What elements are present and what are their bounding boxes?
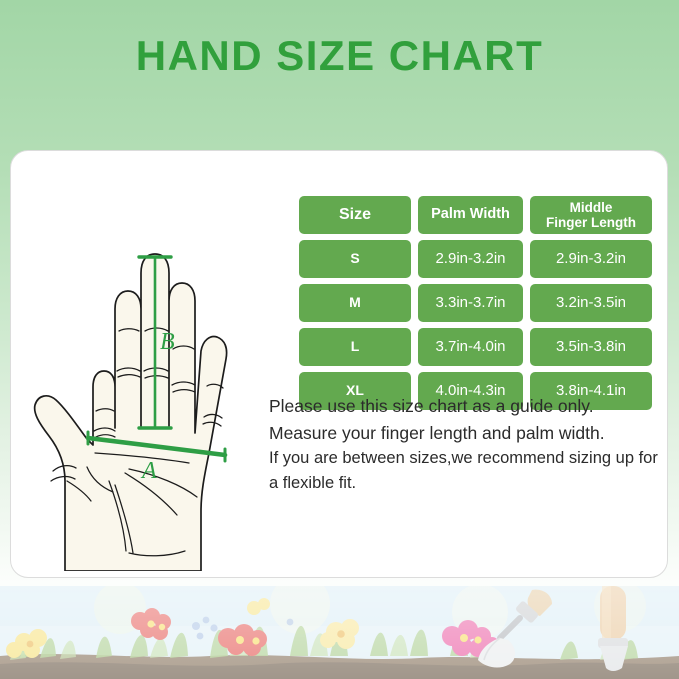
table-row: S 2.9in-3.2in 2.9in-3.2in (299, 240, 657, 278)
hand-shape (35, 254, 227, 571)
page-title: HAND SIZE CHART (0, 32, 679, 80)
cell-middle-finger-length: 2.9in-3.2in (530, 240, 652, 278)
hand-measurement-diagram: B A (29, 181, 294, 571)
note-line-1: Please use this size chart as a guide on… (269, 393, 659, 420)
table-row: L 3.7in-4.0in 3.5in-3.8in (299, 328, 657, 366)
header-middle-finger-line1: Middle (546, 200, 636, 215)
cell-palm-width: 3.7in-4.0in (418, 328, 523, 366)
cell-palm-width: 2.9in-3.2in (418, 240, 523, 278)
cell-size: M (299, 284, 411, 322)
finger-length-label: B (160, 329, 175, 355)
note-line-2: Measure your finger length and palm widt… (269, 420, 659, 447)
cell-size: L (299, 328, 411, 366)
cell-palm-width: 3.3in-3.7in (418, 284, 523, 322)
palm-width-label: A (140, 458, 157, 484)
header-middle-finger-length: Middle Finger Length (530, 196, 652, 234)
table-row: M 3.3in-3.7in 3.2in-3.5in (299, 284, 657, 322)
size-guide-notes: Please use this size chart as a guide on… (269, 393, 659, 496)
note-line-3: If you are between sizes,we recommend si… (269, 446, 659, 496)
table-header-row: Size Palm Width Middle Finger Length (299, 196, 657, 234)
cell-size: S (299, 240, 411, 278)
cell-middle-finger-length: 3.5in-3.8in (530, 328, 652, 366)
cell-middle-finger-length: 3.2in-3.5in (530, 284, 652, 322)
header-palm-width: Palm Width (418, 196, 523, 234)
header-size: Size (299, 196, 411, 234)
hand-size-chart-page: HAND SIZE CHART (0, 0, 679, 679)
size-table: Size Palm Width Middle Finger Length S 2… (299, 196, 657, 416)
garden-photo-strip (0, 586, 679, 679)
header-middle-finger-line2: Finger Length (546, 215, 636, 230)
chart-card: B A Size Palm Width Middle (10, 150, 668, 578)
